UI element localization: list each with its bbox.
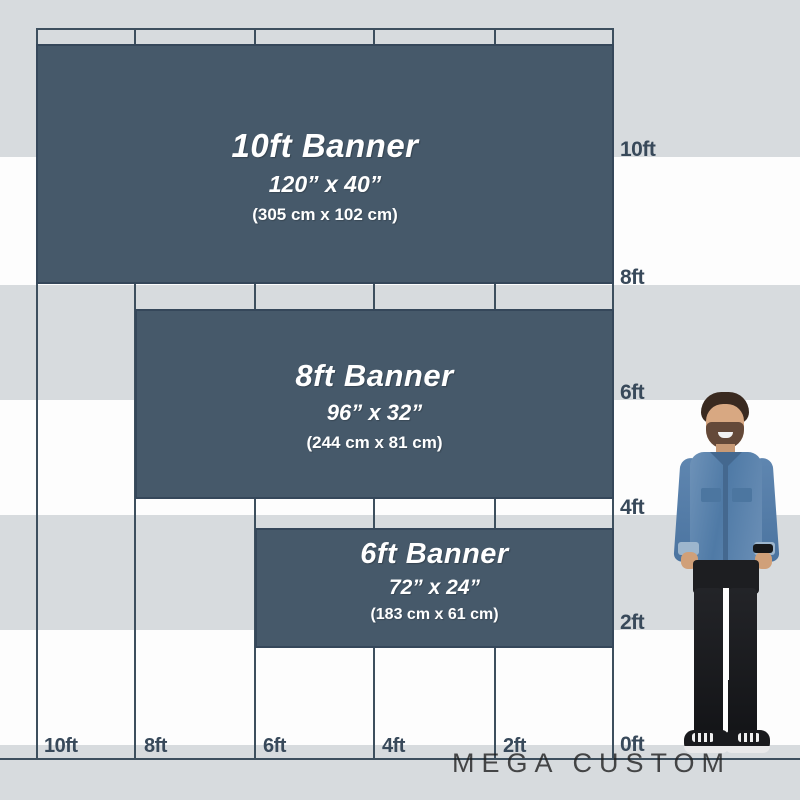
banner-10ft-inches: 120” x 40” xyxy=(269,171,382,198)
banner-6ft-cm: (183 cm x 61 cm) xyxy=(370,606,498,624)
banner-8ft: 8ft Banner 96” x 32” (244 cm x 81 cm) xyxy=(135,309,614,499)
banner-10ft-title: 10ft Banner xyxy=(231,127,418,165)
person-left-laces xyxy=(692,733,714,742)
person-shirt-pocket-left xyxy=(701,488,721,502)
banner-6ft-inches: 72” x 24” xyxy=(389,576,480,600)
banner-8ft-title: 8ft Banner xyxy=(295,358,453,394)
y-axis-label-8ft: 8ft xyxy=(620,266,644,290)
x-axis-label-8ft: 8ft xyxy=(144,735,167,758)
y-axis-label-2ft: 2ft xyxy=(620,611,644,635)
person-shirt-pocket-right xyxy=(732,488,752,502)
person-right-sole xyxy=(726,746,770,753)
x-axis-label-10ft: 10ft xyxy=(44,735,78,758)
banner-6ft-title: 6ft Banner xyxy=(360,538,508,571)
x-axis-label-6ft: 6ft xyxy=(263,735,286,758)
banner-8ft-cm: (244 cm x 81 cm) xyxy=(306,433,442,453)
banner-10ft: 10ft Banner 120” x 40” (305 cm x 102 cm) xyxy=(36,44,614,284)
watermark-mega-custom: MEGA CUSTOM xyxy=(452,748,731,779)
y-axis-label-6ft: 6ft xyxy=(620,381,644,405)
banner-6ft: 6ft Banner 72” x 24” (183 cm x 61 cm) xyxy=(255,528,614,648)
person-right-leg xyxy=(728,588,757,738)
banner-size-comparison-chart: 10ft Banner 120” x 40” (305 cm x 102 cm)… xyxy=(0,0,800,800)
person-left-leg xyxy=(694,588,723,738)
banner-8ft-inches: 96” x 32” xyxy=(327,400,422,426)
x-axis-label-4ft: 4ft xyxy=(382,735,405,758)
y-axis-label-10ft: 10ft xyxy=(620,138,655,162)
person-leg-gap xyxy=(723,588,729,680)
person-shirt-placket xyxy=(723,458,728,564)
y-axis-label-4ft: 4ft xyxy=(620,496,644,520)
person-wristwatch xyxy=(753,544,773,553)
person-right-laces xyxy=(738,733,760,742)
banner-10ft-cm: (305 cm x 102 cm) xyxy=(252,205,398,225)
grid-line-top xyxy=(36,28,614,30)
band-top-gray xyxy=(0,0,800,28)
scale-reference-person xyxy=(668,392,786,760)
